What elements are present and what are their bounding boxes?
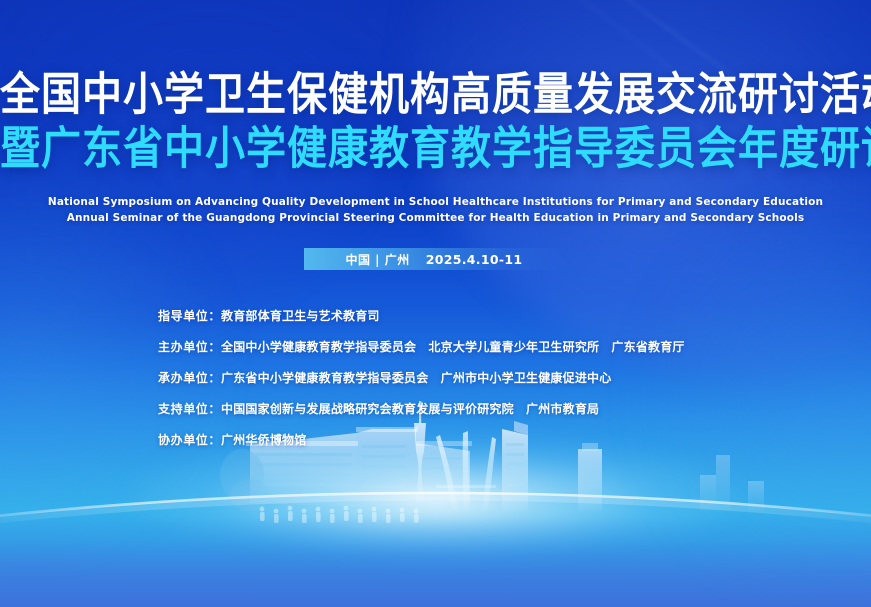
organizer-value: 教育部体育卫生与艺术教育司 bbox=[221, 309, 380, 323]
organizer-row: 承办单位：广东省中小学健康教育教学指导委员会 广州市中小学卫生健康促进中心 bbox=[158, 370, 871, 387]
location-date-badge-wrapper: 中国 | 广州 2025.4.10-11 bbox=[0, 248, 871, 270]
organizer-label: 主办单位： bbox=[158, 340, 221, 354]
organizers-list: 指导单位：教育部体育卫生与艺术教育司 主办单位：全国中小学健康教育教学指导委员会… bbox=[0, 308, 871, 449]
organizer-label: 承办单位： bbox=[158, 371, 221, 385]
background-towers-right bbox=[700, 455, 764, 511]
english-subtitle-line-1: National Symposium on Advancing Quality … bbox=[0, 194, 871, 210]
organizer-row: 协办单位：广州华侨博物馆 bbox=[158, 432, 871, 449]
main-title-line-2: 暨广东省中小学健康教育教学指导委员会年度研讨活动 bbox=[0, 123, 871, 175]
organizer-value: 广州华侨博物馆 bbox=[221, 433, 306, 447]
location-date-badge: 中国 | 广州 2025.4.10-11 bbox=[304, 248, 568, 270]
conference-poster: 全国中小学卫生保健机构高质量发展交流研讨活动 暨广东省中小学健康教育教学指导委员… bbox=[0, 0, 871, 607]
organizer-value: 全国中小学健康教育教学指导委员会 北京大学儿童青少年卫生研究所 广东省教育厅 bbox=[221, 340, 685, 354]
organizer-label: 支持单位： bbox=[158, 402, 221, 416]
title-block: 全国中小学卫生保健机构高质量发展交流研讨活动 暨广东省中小学健康教育教学指导委员… bbox=[0, 72, 871, 172]
organizer-row: 指导单位：教育部体育卫生与艺术教育司 bbox=[158, 308, 871, 325]
english-subtitle-line-2: Annual Seminar of the Guangdong Provinci… bbox=[0, 210, 871, 226]
badge-location-text: 中国 | 广州 bbox=[346, 251, 410, 268]
bottom-gradient-fade bbox=[0, 517, 871, 607]
organizer-value: 中国国家创新与发展战略研究会教育发展与评价研究院 广州市教育局 bbox=[221, 402, 599, 416]
organizer-row: 主办单位：全国中小学健康教育教学指导委员会 北京大学儿童青少年卫生研究所 广东省… bbox=[158, 339, 871, 356]
organizer-value: 广东省中小学健康教育教学指导委员会 广州市中小学卫生健康促进中心 bbox=[221, 371, 611, 385]
organizer-label: 指导单位： bbox=[158, 309, 221, 323]
poster-content: 全国中小学卫生保健机构高质量发展交流研讨活动 暨广东省中小学健康教育教学指导委员… bbox=[0, 0, 871, 463]
badge-date-text: 2025.4.10-11 bbox=[426, 252, 523, 267]
main-title-line-1: 全国中小学卫生保健机构高质量发展交流研讨活动 bbox=[0, 69, 871, 121]
organizer-row: 支持单位：中国国家创新与发展战略研究会教育发展与评价研究院 广州市教育局 bbox=[158, 401, 871, 418]
english-subtitle-block: National Symposium on Advancing Quality … bbox=[0, 194, 871, 226]
organizer-label: 协办单位： bbox=[158, 433, 221, 447]
